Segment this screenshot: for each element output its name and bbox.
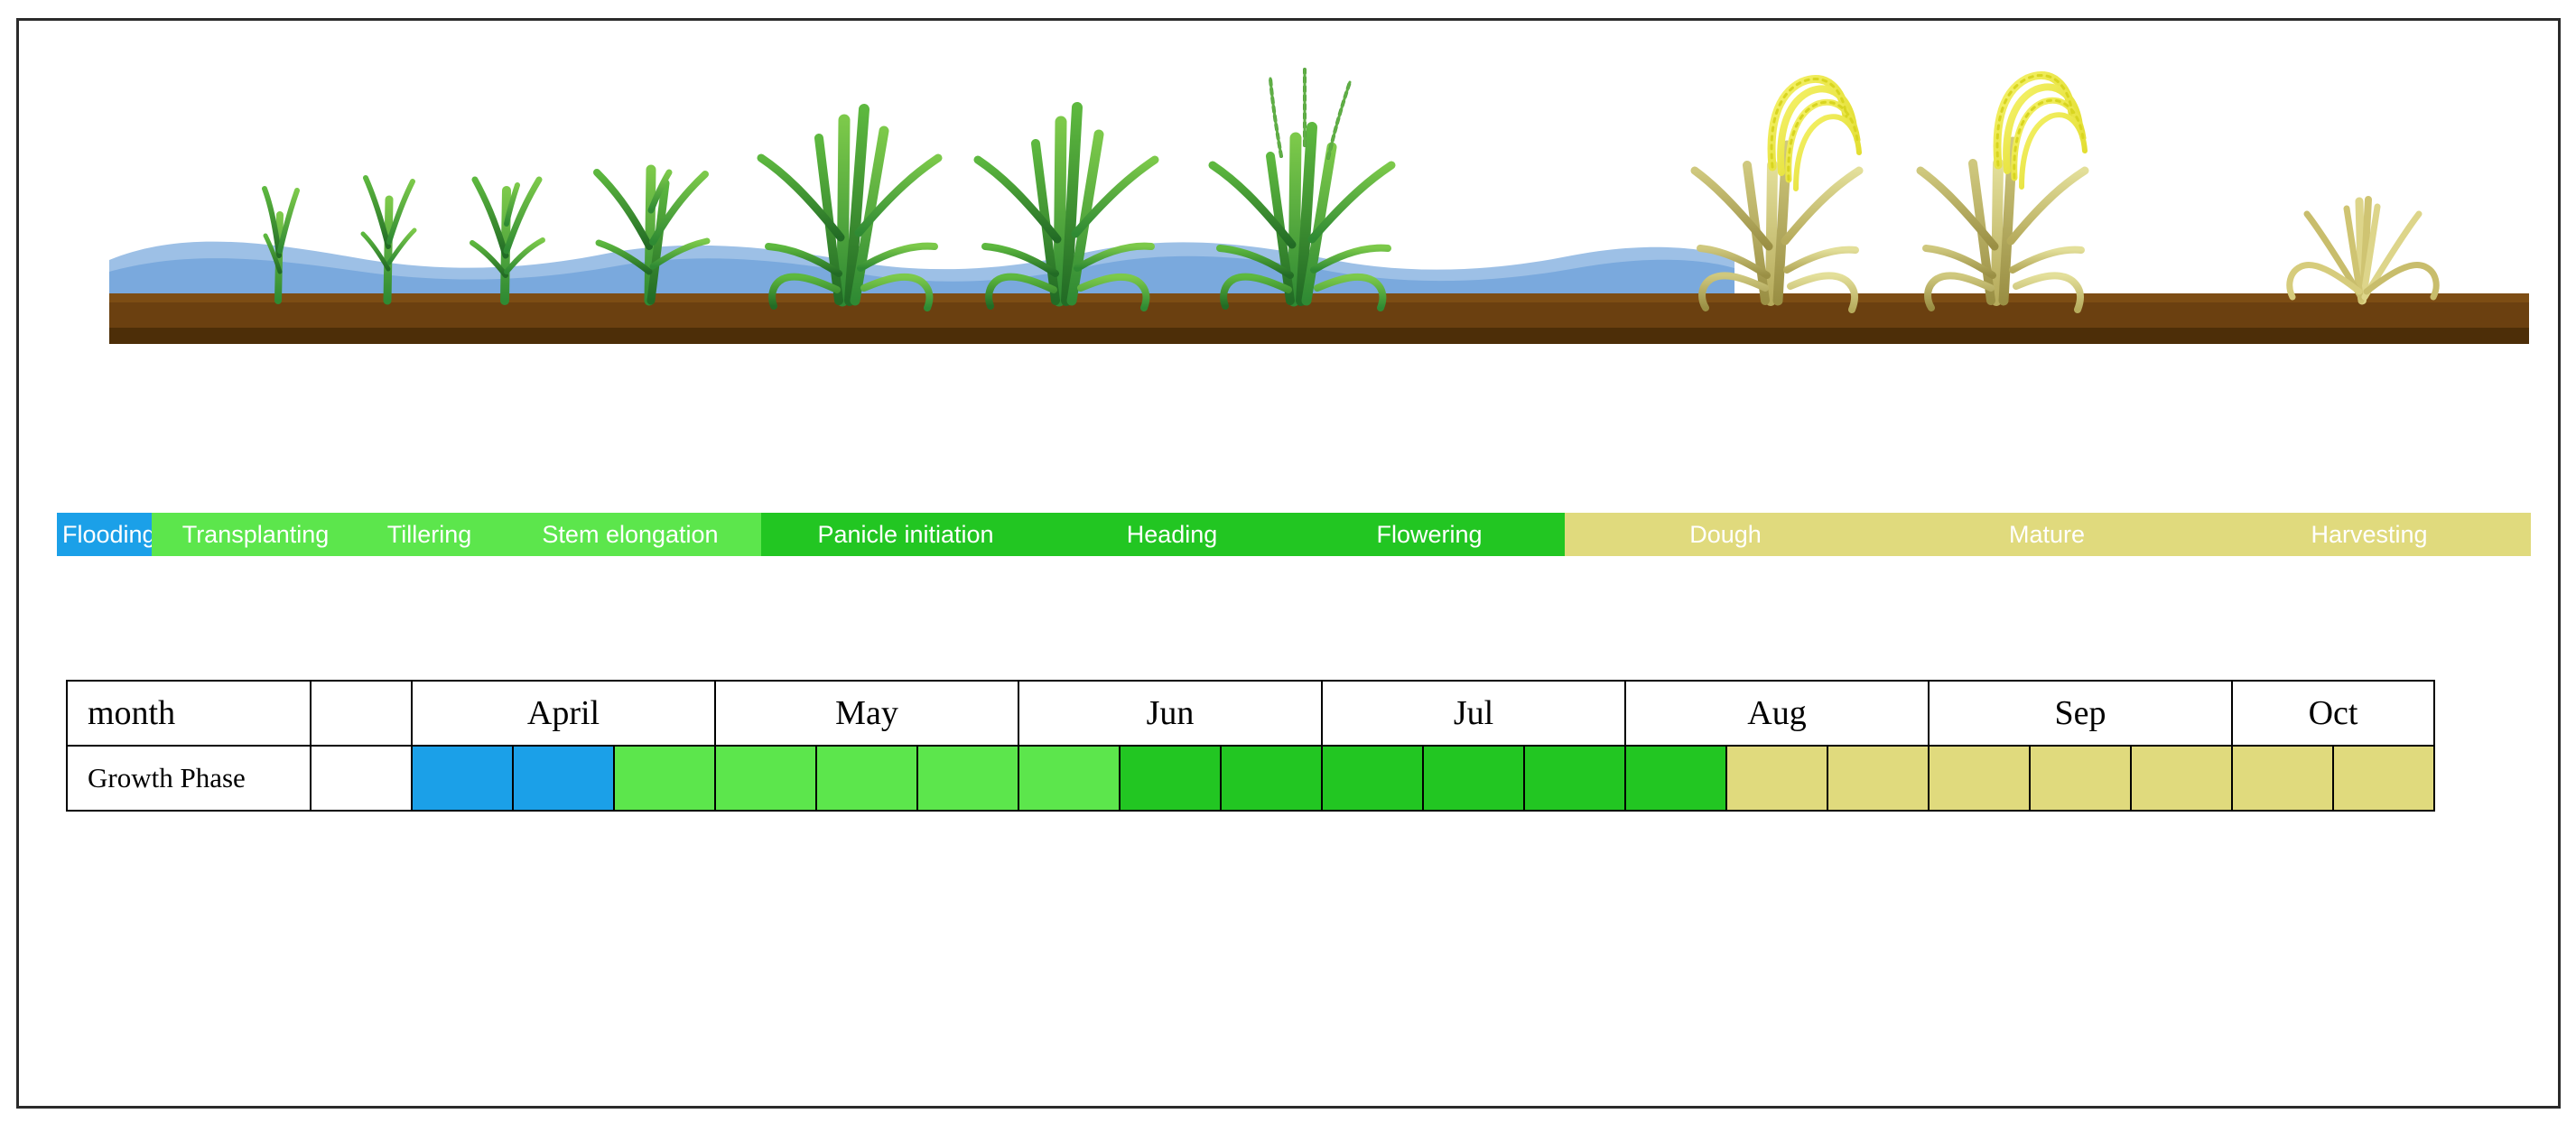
growth-calendar-table: month AprilMayJunJulAugSepOct Growth Pha… — [66, 680, 2435, 812]
phase-cell-4 — [614, 746, 715, 811]
phase-cell-3 — [513, 746, 614, 811]
phase-cell-18 — [2030, 746, 2131, 811]
phase-cell-21 — [2333, 746, 2434, 811]
phase-cell-17 — [1929, 746, 2030, 811]
calendar-month-row: month AprilMayJunJulAugSepOct — [67, 681, 2434, 746]
month-header-oct: Oct — [2232, 681, 2434, 746]
phase-segment-harvesting: Harvesting — [2208, 513, 2531, 556]
rice-growth-illustration — [19, 21, 2558, 508]
phase-cell-19 — [2131, 746, 2232, 811]
calendar-growth-phase-row: Growth Phase — [67, 746, 2434, 811]
figure-frame: FloodingTransplantingTilleringStem elong… — [16, 18, 2561, 1109]
month-header-spacer — [311, 681, 412, 746]
phase-cell-15 — [1726, 746, 1827, 811]
plant-harvesting-stubble — [2290, 200, 2436, 301]
phase-cell-5 — [715, 746, 816, 811]
month-header-jun: Jun — [1018, 681, 1322, 746]
phase-segment-tillering: Tillering — [359, 513, 499, 556]
growth-phase-color-bar: FloodingTransplantingTilleringStem elong… — [57, 513, 2531, 556]
phase-cell-10 — [1221, 746, 1322, 811]
phase-cell-13 — [1524, 746, 1625, 811]
soil-layer — [109, 293, 2529, 344]
row-label-growth-phase: Growth Phase — [67, 746, 311, 811]
field-scene-svg — [55, 30, 2529, 508]
month-header-sep: Sep — [1929, 681, 2232, 746]
month-header-april: April — [412, 681, 715, 746]
phase-cell-16 — [1827, 746, 1929, 811]
phase-cell-7 — [917, 746, 1018, 811]
phase-cell-12 — [1423, 746, 1524, 811]
phase-segment-heading: Heading — [1050, 513, 1294, 556]
phase-segment-dough: Dough — [1565, 513, 1886, 556]
phase-cell-8 — [1018, 746, 1120, 811]
month-header-aug: Aug — [1625, 681, 1929, 746]
phase-cell-6 — [816, 746, 917, 811]
row-label-month: month — [67, 681, 311, 746]
plant-mature — [1920, 75, 2085, 310]
phase-segment-panicle-initiation: Panicle initiation — [761, 513, 1050, 556]
phase-segment-flowering: Flowering — [1294, 513, 1565, 556]
water-layer — [109, 242, 1734, 301]
phase-cell-14 — [1625, 746, 1726, 811]
phase-cell-11 — [1322, 746, 1423, 811]
phase-segment-mature: Mature — [1886, 513, 2208, 556]
phase-cell-20 — [2232, 746, 2333, 811]
month-header-may: May — [715, 681, 1018, 746]
plant-heading — [978, 107, 1155, 308]
phase-segment-flooding: Flooding — [57, 513, 152, 556]
plant-dough — [1695, 79, 1859, 310]
phase-segment-transplanting: Transplanting — [152, 513, 359, 556]
plant-panicle-initiation — [761, 109, 938, 308]
phase-cell-9 — [1120, 746, 1221, 811]
phase-segment-stem-elongation: Stem elongation — [499, 513, 761, 556]
phase-cell-2 — [412, 746, 513, 811]
month-header-jul: Jul — [1322, 681, 1625, 746]
phase-cell-1 — [311, 746, 412, 811]
